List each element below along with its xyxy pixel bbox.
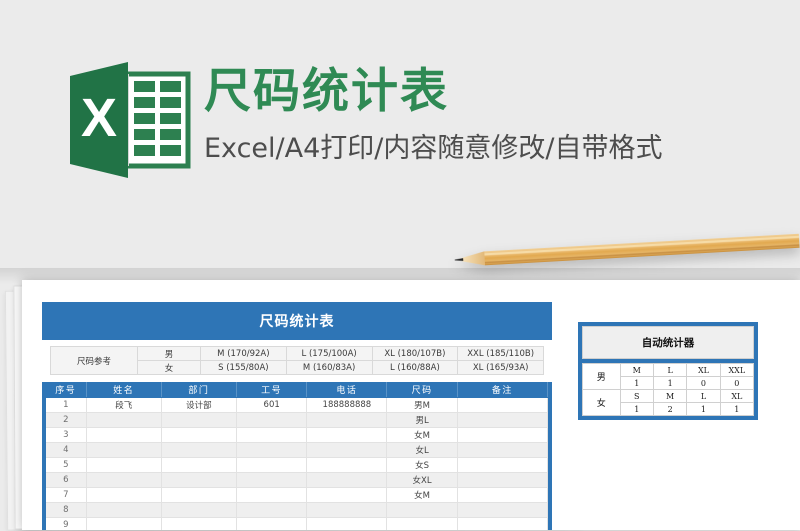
cell-dept[interactable] — [161, 503, 236, 518]
column-header-no: 序号 — [46, 382, 86, 398]
cell-dept[interactable] — [161, 473, 236, 488]
cell-size[interactable]: 男L — [387, 413, 457, 428]
counter-female-count-2: 2 — [653, 403, 686, 416]
cell-empno[interactable] — [237, 518, 307, 531]
counter-female-count-4: 1 — [720, 403, 753, 416]
table-header-row: 序号 姓名 部门 工号 电话 尺码 备注 — [46, 382, 548, 398]
counter-male-size-1: M — [620, 364, 653, 377]
reference-male-size-2: L (175/100A) — [286, 347, 372, 361]
counter-male-count-4: 0 — [720, 377, 753, 390]
cell-dept[interactable] — [161, 518, 236, 531]
table-row[interactable]: 7 女M — [46, 488, 548, 503]
cell-no[interactable]: 3 — [46, 428, 86, 443]
reference-male-size-3: XL (180/107B) — [372, 347, 458, 361]
cell-phone[interactable] — [307, 518, 387, 531]
table-row[interactable]: 5 女S — [46, 458, 548, 473]
cell-dept[interactable] — [161, 413, 236, 428]
counter-male-count-3: 0 — [687, 377, 720, 390]
reference-male-size-1: M (170/92A) — [201, 347, 287, 361]
cell-empno[interactable] — [237, 503, 307, 518]
cell-note[interactable] — [457, 518, 547, 531]
cell-size[interactable]: 男M — [387, 398, 457, 413]
cell-no[interactable]: 1 — [46, 398, 86, 413]
cell-empno[interactable] — [237, 413, 307, 428]
reference-female-size-2: M (160/83A) — [286, 361, 372, 375]
column-header-empno: 工号 — [237, 382, 307, 398]
cell-note[interactable] — [457, 488, 547, 503]
cell-no[interactable]: 4 — [46, 443, 86, 458]
cell-no[interactable]: 8 — [46, 503, 86, 518]
cell-note[interactable] — [457, 473, 547, 488]
cell-phone[interactable] — [307, 428, 387, 443]
counter-male-size-3: XL — [687, 364, 720, 377]
promo-banner: X 尺码统计表 Excel/A4打印/内容随意修改/自带格式 — [0, 0, 800, 240]
counter-male-count-2: 1 — [653, 377, 686, 390]
cell-name[interactable] — [86, 518, 161, 531]
cell-name[interactable] — [86, 413, 161, 428]
banner-text-block: 尺码统计表 Excel/A4打印/内容随意修改/自带格式 — [204, 66, 794, 165]
cell-note[interactable] — [457, 413, 547, 428]
size-reference-table: 尺码参考 男 M (170/92A) L (175/100A) XL (180/… — [50, 346, 544, 375]
counter-male-size-4: XXL — [720, 364, 753, 377]
cell-dept[interactable] — [161, 428, 236, 443]
cell-size[interactable] — [387, 503, 457, 518]
cell-no[interactable]: 6 — [46, 473, 86, 488]
table-row[interactable]: 8 — [46, 503, 548, 518]
cell-size[interactable] — [387, 518, 457, 531]
cell-phone[interactable] — [307, 458, 387, 473]
counter-female-count-1: 1 — [620, 403, 653, 416]
table-row[interactable]: 1 段飞 设计部 601 188888888 男M — [46, 398, 548, 413]
column-header-name: 姓名 — [86, 382, 161, 398]
size-reference-section: 尺码参考 男 M (170/92A) L (175/100A) XL (180/… — [42, 340, 552, 382]
cell-name[interactable] — [86, 428, 161, 443]
cell-no[interactable]: 9 — [46, 518, 86, 531]
cell-phone[interactable] — [307, 413, 387, 428]
cell-dept[interactable] — [161, 488, 236, 503]
table-row: 男 M L XL XXL — [583, 364, 754, 377]
column-header-note: 备注 — [457, 382, 547, 398]
table-row[interactable]: 9 — [46, 518, 548, 531]
cell-phone[interactable]: 188888888 — [307, 398, 387, 413]
cell-phone[interactable] — [307, 473, 387, 488]
counter-female-size-4: XL — [720, 390, 753, 403]
cell-empno[interactable] — [237, 473, 307, 488]
cell-note[interactable] — [457, 398, 547, 413]
cell-size[interactable]: 女M — [387, 488, 457, 503]
cell-dept[interactable]: 设计部 — [161, 398, 236, 413]
cell-phone[interactable] — [307, 443, 387, 458]
cell-empno[interactable] — [237, 428, 307, 443]
cell-no[interactable]: 2 — [46, 413, 86, 428]
counter-label-female: 女 — [583, 390, 621, 416]
reference-female-size-4: XL (165/93A) — [458, 361, 544, 375]
reference-female-size-3: L (160/88A) — [372, 361, 458, 375]
size-reference-label: 尺码参考 — [51, 347, 138, 375]
cell-size[interactable]: 女XL — [387, 473, 457, 488]
counter-label-male: 男 — [583, 364, 621, 390]
table-row[interactable]: 4 女L — [46, 443, 548, 458]
cell-no[interactable]: 5 — [46, 458, 86, 473]
auto-counter-title: 自动统计器 — [582, 326, 754, 359]
page-subtitle: Excel/A4打印/内容随意修改/自带格式 — [204, 126, 794, 165]
table-row: 女 S M L XL — [583, 390, 754, 403]
counter-female-size-1: S — [620, 390, 653, 403]
reference-gender-male: 男 — [138, 347, 201, 361]
cell-dept[interactable] — [161, 443, 236, 458]
excel-logo-letter: X — [81, 88, 117, 148]
reference-female-size-1: S (155/80A) — [201, 361, 287, 375]
page-title: 尺码统计表 — [204, 66, 794, 118]
counter-female-size-3: L — [687, 390, 720, 403]
cell-no[interactable]: 7 — [46, 488, 86, 503]
cell-size[interactable]: 女M — [387, 428, 457, 443]
size-table-title: 尺码统计表 — [42, 302, 552, 340]
cell-name[interactable] — [86, 443, 161, 458]
column-header-phone: 电话 — [307, 382, 387, 398]
cell-size[interactable]: 女S — [387, 458, 457, 473]
spreadsheet-sheet: 尺码统计表 尺码参考 男 M (170/92A) L (175/100A) XL… — [22, 280, 800, 530]
size-table-card: 尺码统计表 尺码参考 男 M (170/92A) L (175/100A) XL… — [42, 302, 552, 530]
table-row[interactable]: 6 女XL — [46, 473, 548, 488]
column-header-dept: 部门 — [161, 382, 236, 398]
auto-counter-table: 男 M L XL XXL 1 1 0 0 女 S M L XL — [582, 363, 754, 416]
column-header-size: 尺码 — [387, 382, 457, 398]
cell-phone[interactable] — [307, 488, 387, 503]
employee-size-table: 序号 姓名 部门 工号 电话 尺码 备注 1 段飞 设计部 601 — [46, 382, 548, 530]
cell-name[interactable] — [86, 473, 161, 488]
counter-female-count-3: 1 — [687, 403, 720, 416]
reference-gender-female: 女 — [138, 361, 201, 375]
cell-size[interactable]: 女L — [387, 443, 457, 458]
cell-empno[interactable]: 601 — [237, 398, 307, 413]
cell-empno[interactable] — [237, 488, 307, 503]
counter-female-size-2: M — [653, 390, 686, 403]
cell-empno[interactable] — [237, 443, 307, 458]
data-grid-wrapper: 序号 姓名 部门 工号 电话 尺码 备注 1 段飞 设计部 601 — [42, 382, 552, 530]
table-row[interactable]: 3 女M — [46, 428, 548, 443]
cell-name[interactable] — [86, 503, 161, 518]
cell-name[interactable]: 段飞 — [86, 398, 161, 413]
counter-male-count-1: 1 — [620, 377, 653, 390]
excel-logo-icon: X — [66, 62, 192, 178]
table-row: 尺码参考 男 M (170/92A) L (175/100A) XL (180/… — [51, 347, 544, 361]
cell-phone[interactable] — [307, 503, 387, 518]
cell-dept[interactable] — [161, 458, 236, 473]
reference-male-size-4: XXL (185/110B) — [458, 347, 544, 361]
table-row[interactable]: 2 男L — [46, 413, 548, 428]
cell-note[interactable] — [457, 428, 547, 443]
cell-note[interactable] — [457, 503, 547, 518]
cell-note[interactable] — [457, 458, 547, 473]
cell-note[interactable] — [457, 443, 547, 458]
cell-name[interactable] — [86, 458, 161, 473]
auto-counter-card: 自动统计器 男 M L XL XXL 1 1 0 0 — [578, 322, 758, 420]
cell-empno[interactable] — [237, 458, 307, 473]
cell-name[interactable] — [86, 488, 161, 503]
counter-male-size-2: L — [653, 364, 686, 377]
